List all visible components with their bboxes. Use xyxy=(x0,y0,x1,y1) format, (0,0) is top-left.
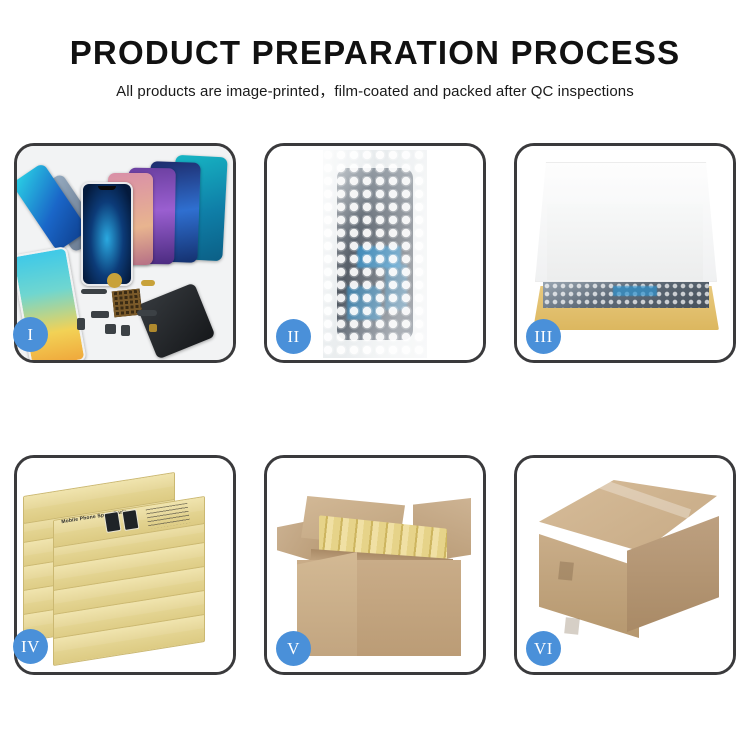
phone-logic-board xyxy=(136,282,215,359)
step-panel-1: I xyxy=(14,143,236,363)
phone-notch xyxy=(98,186,116,190)
product-preparation-infographic: PRODUCT PREPARATION PROCESS All products… xyxy=(0,0,750,750)
step-badge-5: V xyxy=(276,631,311,666)
step-panel-2: II xyxy=(264,143,486,363)
page-title: PRODUCT PREPARATION PROCESS xyxy=(0,36,750,71)
carton-handle-tab xyxy=(564,617,580,634)
screw-part xyxy=(149,324,157,332)
flex-cable-part xyxy=(81,289,107,294)
vibrator-part xyxy=(105,324,116,334)
box-stack: Mobile Phone Spare Parts Mobile Phone Sp… xyxy=(23,472,229,662)
page-subtitle: All products are image-printed，film-coat… xyxy=(0,80,750,101)
bubble-wrap-sheen xyxy=(323,150,427,358)
phone-front-glass xyxy=(81,182,133,286)
step-panel-3: III xyxy=(514,143,736,363)
step-panel-5: V xyxy=(264,455,486,675)
step-4-image: Mobile Phone Spare Parts Mobile Phone Sp… xyxy=(17,458,233,672)
step-badge-2: II xyxy=(276,319,311,354)
button-flex-part xyxy=(91,311,109,318)
taptic-part xyxy=(121,325,130,336)
step-1-image xyxy=(17,146,233,360)
boxed-product-blue-label xyxy=(613,286,657,296)
camera-lens-part xyxy=(107,273,122,288)
box-art-phone xyxy=(122,509,140,531)
box-art-phone xyxy=(104,511,122,533)
step-badge-1: I xyxy=(13,317,48,352)
step-badge-4: IV xyxy=(13,629,48,664)
inner-box-lid-back xyxy=(547,204,703,280)
connector-part xyxy=(141,280,155,286)
sim-tray-part xyxy=(77,318,85,330)
step-panel-6: VI xyxy=(514,455,736,675)
antenna-part xyxy=(137,310,157,316)
header: PRODUCT PREPARATION PROCESS All products… xyxy=(0,0,750,101)
sealed-carton-front xyxy=(539,534,639,638)
step-panel-4: Mobile Phone Spare Parts Mobile Phone Sp… xyxy=(14,455,236,675)
steps-grid: I II III xyxy=(14,143,736,675)
step-badge-3: III xyxy=(526,319,561,354)
carton-handle-tab xyxy=(558,561,574,580)
step-badge-6: VI xyxy=(526,631,561,666)
